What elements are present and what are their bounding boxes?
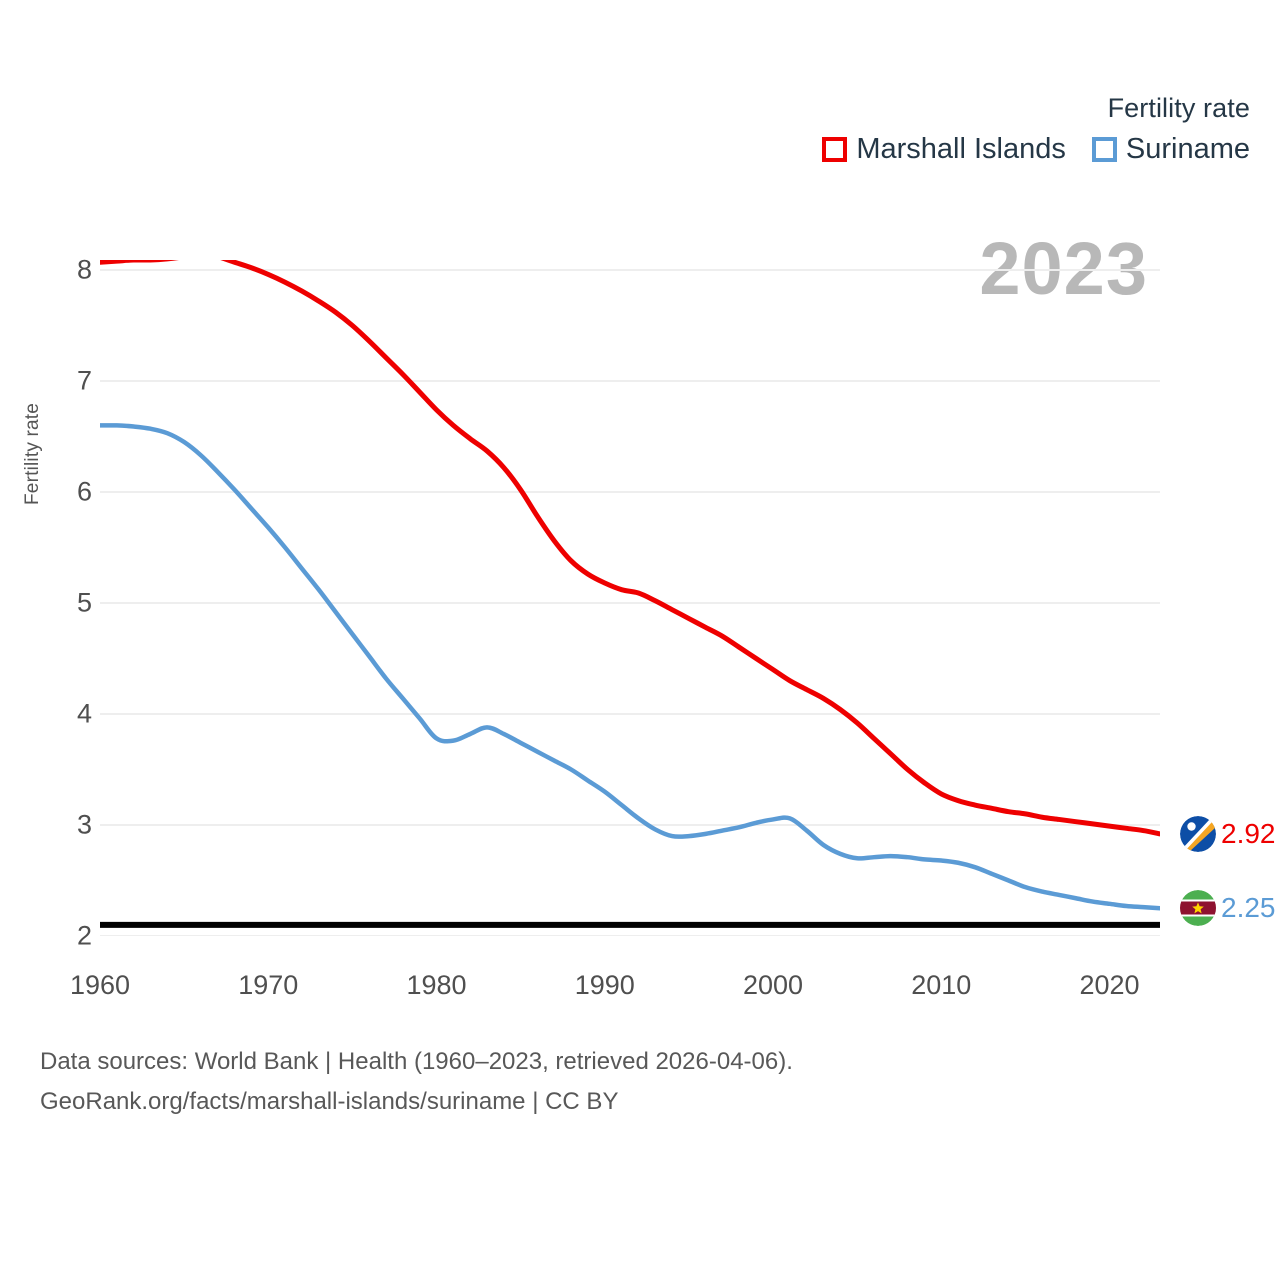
legend: Fertility rate Marshall Islands Suriname (660, 92, 1250, 165)
legend-items: Marshall Islands Suriname (660, 133, 1250, 165)
x-axis-tick-2020: 2020 (1050, 972, 1170, 999)
legend-title: Fertility rate (660, 92, 1250, 124)
series-line-suriname (100, 425, 1160, 908)
y-axis-tick-5: 5 (52, 590, 92, 617)
x-axis-tick-2010: 2010 (881, 972, 1001, 999)
y-axis-tick-7: 7 (52, 368, 92, 395)
end-value-marshall-islands: 2.92 (1221, 820, 1276, 848)
chart-canvas: Fertility rate Marshall Islands Suriname… (0, 0, 1280, 1280)
footer: Data sources: World Bank | Health (1960–… (40, 1042, 1220, 1122)
flag-marshall-islands-icon (1180, 816, 1216, 852)
footer-line-sources: Data sources: World Bank | Health (1960–… (40, 1042, 1220, 1082)
x-axis-tick-2000: 2000 (713, 972, 833, 999)
legend-swatch-icon-suriname (1092, 137, 1117, 162)
y-axis-title: Fertility rate (22, 403, 44, 505)
series-lines (100, 260, 1160, 908)
x-axis-tick-1980: 1980 (377, 972, 497, 999)
legend-label-marshall-islands: Marshall Islands (856, 133, 1066, 165)
legend-swatch-icon-marshall-islands (822, 137, 847, 162)
y-axis-tick-2: 2 (52, 923, 92, 950)
series-line-marshall-islands (100, 260, 1160, 834)
end-value-suriname: 2.25 (1221, 894, 1276, 922)
y-axis-tick-8: 8 (52, 257, 92, 284)
gridlines (100, 270, 1160, 936)
y-axis-tick-6: 6 (52, 479, 92, 506)
legend-item-marshall-islands[interactable]: Marshall Islands (822, 133, 1066, 165)
y-axis-tick-3: 3 (52, 812, 92, 839)
footer-line-attribution: GeoRank.org/facts/marshall-islands/surin… (40, 1082, 1220, 1122)
end-label-marshall-islands[interactable]: 2.92 (1180, 816, 1276, 852)
x-axis-tick-1960: 1960 (40, 972, 160, 999)
legend-label-suriname: Suriname (1126, 133, 1250, 165)
flag-suriname-icon (1180, 890, 1216, 926)
x-axis-tick-1990: 1990 (545, 972, 665, 999)
y-axis-tick-4: 4 (52, 701, 92, 728)
end-label-suriname[interactable]: 2.25 (1180, 890, 1276, 926)
x-axis-tick-1970: 1970 (208, 972, 328, 999)
plot-svg (100, 260, 1160, 936)
legend-item-suriname[interactable]: Suriname (1092, 133, 1250, 165)
plot-area (100, 260, 1160, 936)
